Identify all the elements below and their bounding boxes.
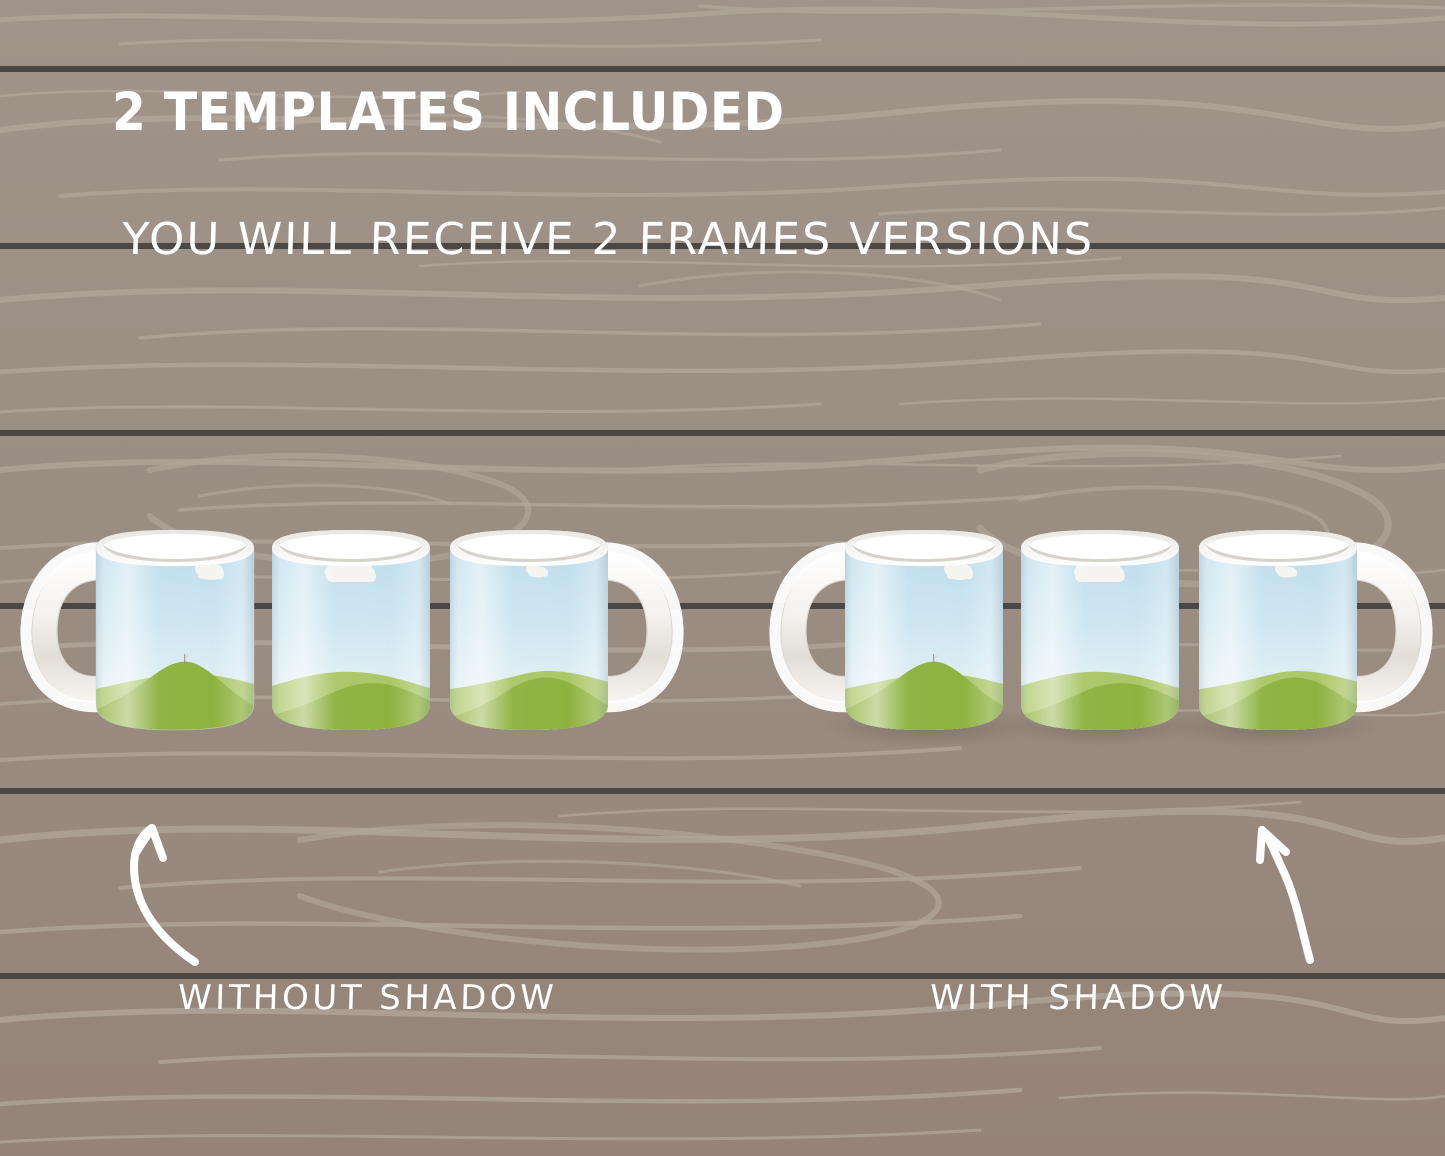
page-subtitle: YOU WILL RECEIVE 2 FRAMES VERSIONS — [121, 218, 1095, 262]
caption-with-shadow: WITH SHADOW — [929, 978, 1226, 1018]
page-title: 2 TEMPLATES INCLUDED — [112, 86, 785, 139]
mockup-canvas: 2 TEMPLATES INCLUDED YOU WILL RECEIVE 2 … — [0, 0, 1445, 1156]
caption-without-shadow: WITHOUT SHADOW — [177, 978, 557, 1018]
